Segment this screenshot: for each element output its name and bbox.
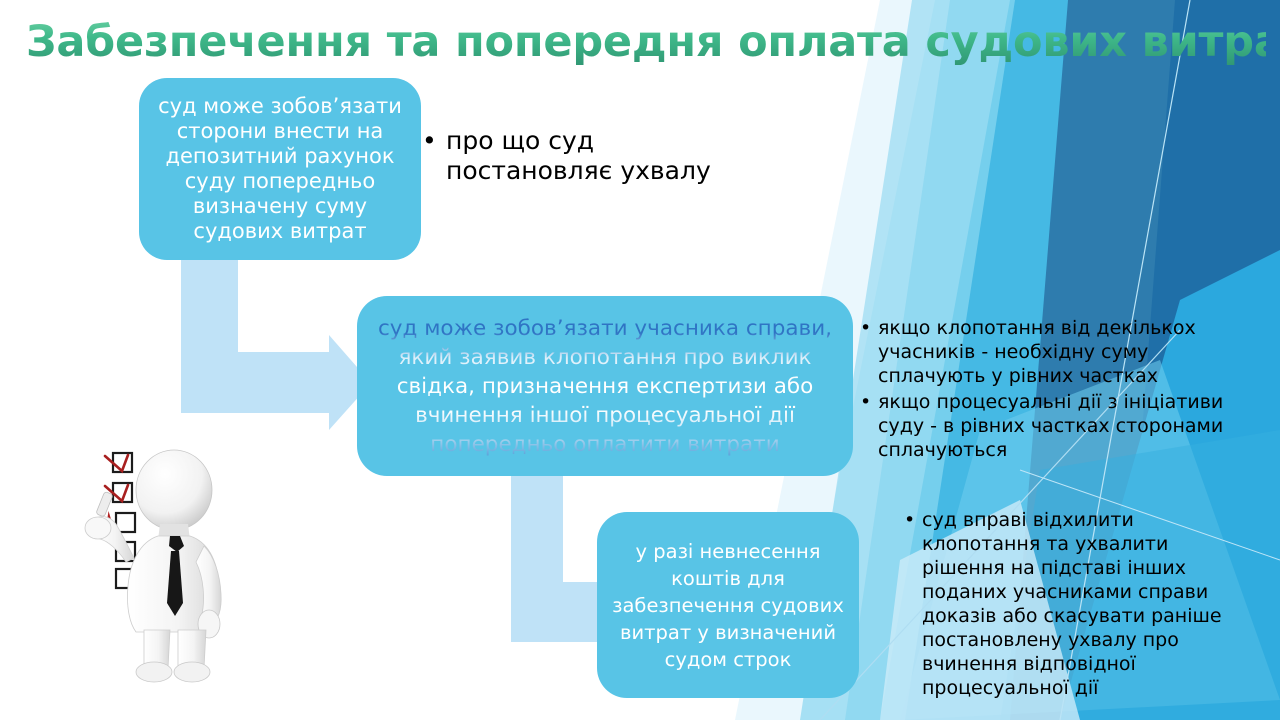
- checkmark-1: [105, 455, 128, 471]
- left-foot: [136, 662, 172, 682]
- process-box-1-label: суд може зобов’язати сторони внести на д…: [153, 94, 407, 244]
- bullet-list-middle: якщо клопотання від декількох учасників …: [856, 316, 1251, 464]
- bullet-list-lower: суд вправі відхилити клопотання та ухвал…: [900, 508, 1230, 702]
- bullet-list-top: про що суд постановляє ухвалу: [420, 126, 720, 188]
- list-item: про що суд постановляє ухвалу: [420, 126, 720, 186]
- list-item: суд вправі відхилити клопотання та ухвал…: [900, 508, 1230, 700]
- process-box-court-may-oblige-parties[interactable]: суд може зобов’язати сторони внести на д…: [139, 78, 421, 260]
- list-item: якщо клопотання від декількох учасників …: [856, 316, 1251, 388]
- left-hand: [85, 517, 111, 539]
- right-foot: [174, 662, 210, 682]
- process-box-3-label: у разі невнесення коштів для забезпеченн…: [611, 538, 845, 673]
- checklist-mannequin-illustration: [78, 438, 268, 686]
- process-box-non-payment[interactable]: у разі невнесення коштів для забезпеченн…: [597, 512, 859, 698]
- process-box-court-may-oblige-participant[interactable]: суд може зобов’язати учасника справи, як…: [357, 296, 853, 476]
- head: [136, 450, 212, 530]
- page-title: Забезпечення та попередня оплата судових…: [26, 14, 1266, 70]
- slide-canvas: Забезпечення та попередня оплата судових…: [0, 0, 1280, 720]
- list-item: якщо процесуальні дії з ініціативи суду …: [856, 390, 1251, 462]
- process-box-2-label: суд може зобов’язати учасника справи, як…: [375, 314, 835, 459]
- connector-arrow-1: [181, 258, 371, 430]
